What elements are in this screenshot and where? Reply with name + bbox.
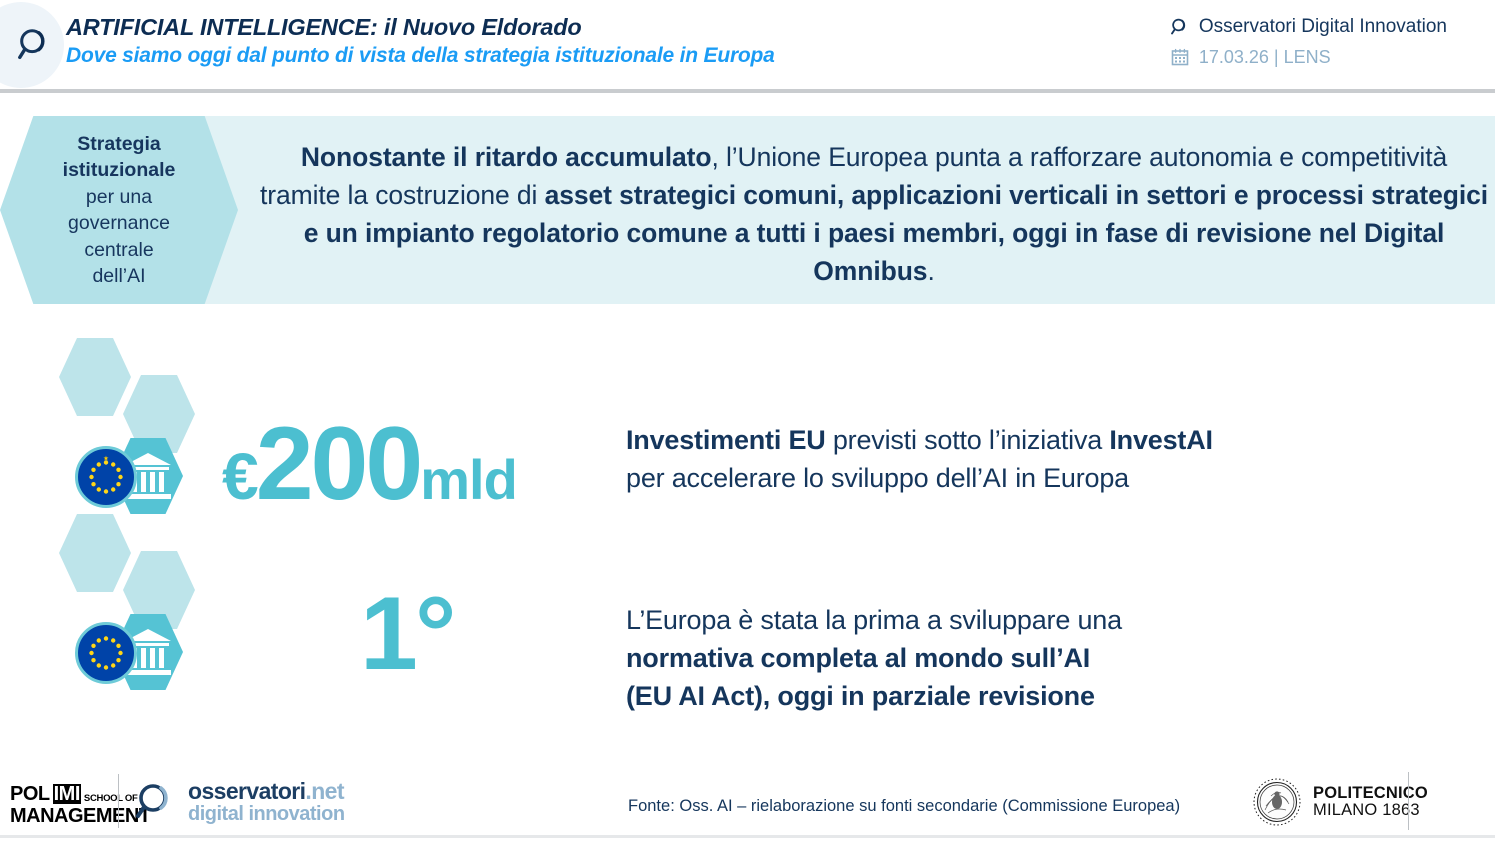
stat-value-eu-ai-act: 1° xyxy=(360,582,453,686)
stat-description-investimenti: Investimenti EU previsti sotto l’iniziat… xyxy=(626,421,1213,497)
page-title: ARTIFICIAL INTELLIGENCE: il Nuovo Eldora… xyxy=(66,12,775,42)
page-subtitle: Dove siamo oggi dal punto di vista della… xyxy=(66,42,775,70)
politecnico-logo: POLITECNICO MILANO 1863 xyxy=(1251,776,1428,828)
stat-description-eu-ai-act: L’Europa è stata la prima a sviluppare u… xyxy=(626,601,1122,715)
stat-text-line: per accelerare lo sviluppo dell’AI in Eu… xyxy=(626,459,1213,497)
badge-line-4: governance xyxy=(68,210,170,237)
stat-text-line: L’Europa è stata la prima a sviluppare u… xyxy=(626,601,1122,639)
header-title-group: ARTIFICIAL INTELLIGENCE: il Nuovo Eldora… xyxy=(66,12,775,70)
calendar-icon xyxy=(1170,47,1190,67)
polimi-school-of: SCHOOL OF xyxy=(84,794,138,805)
politecnico-city-year: MILANO 1863 xyxy=(1313,802,1428,819)
page-header: ARTIFICIAL INTELLIGENCE: il Nuovo Eldora… xyxy=(0,0,1495,89)
eu-institution-icon xyxy=(75,438,183,514)
eu-institution-icon xyxy=(75,614,183,690)
footer-divider-vertical xyxy=(118,774,119,828)
header-meta: Osservatori Digital Innovation 17.03.26 … xyxy=(1170,13,1447,71)
stat-number: 200 xyxy=(256,406,421,522)
strategy-hexagon-badge: Strategia istituzionale per una governan… xyxy=(0,116,238,304)
politecnico-name: POLITECNICO xyxy=(1313,785,1428,802)
stat-unit: mld xyxy=(420,448,517,511)
banner-statement: Nonostante il ritardo accumulato, l’Unio… xyxy=(260,138,1488,290)
magnifier-icon xyxy=(16,26,54,64)
badge-line-5: centrale xyxy=(84,237,153,264)
decorative-hexagon xyxy=(59,338,131,416)
stat-text-line: Investimenti EU previsti sotto l’iniziat… xyxy=(626,421,1213,459)
badge-line-6: dell’AI xyxy=(92,263,145,290)
polimi-text-b: IMI xyxy=(53,784,81,804)
politecnico-seal-icon xyxy=(1251,776,1303,828)
polimi-text-a: POL xyxy=(10,784,50,804)
brand-label: Osservatori Digital Innovation xyxy=(1199,13,1447,41)
stat-text-line: normativa completa al mondo sull’AI xyxy=(626,639,1122,677)
footer-divider xyxy=(0,835,1495,838)
badge-line-1: Strategia xyxy=(77,131,160,158)
decorative-hexagon xyxy=(59,514,131,592)
stat-text-line: (EU AI Act), oggi in parziale revisione xyxy=(626,677,1122,715)
currency-symbol: € xyxy=(222,439,256,513)
badge-line-2: istituzionale xyxy=(63,157,176,184)
header-divider xyxy=(0,89,1495,93)
magnifier-icon xyxy=(134,780,178,824)
osservatori-name: osservatori xyxy=(188,778,305,804)
osservatori-tld: .net xyxy=(305,778,344,804)
date-label: 17.03.26 | LENS xyxy=(1199,43,1331,71)
badge-line-3: per una xyxy=(86,184,152,211)
footer-divider-vertical xyxy=(1408,772,1409,830)
polimi-school-logo: POLIMISCHOOL OF MANAGEMENT xyxy=(10,784,151,826)
eu-flag-icon xyxy=(75,446,137,508)
osservatori-logo: osservatori.net digital innovation xyxy=(134,780,345,824)
stat-number: 1° xyxy=(360,576,453,692)
eu-flag-icon xyxy=(75,622,137,684)
source-note: Fonte: Oss. AI – rielaborazione su fonti… xyxy=(628,797,1180,816)
stat-value-investimenti: €200mld xyxy=(222,412,517,516)
polimi-management: MANAGEMENT xyxy=(10,806,151,826)
osservatori-subtitle: digital innovation xyxy=(188,804,345,824)
magnifier-icon xyxy=(1170,17,1190,37)
